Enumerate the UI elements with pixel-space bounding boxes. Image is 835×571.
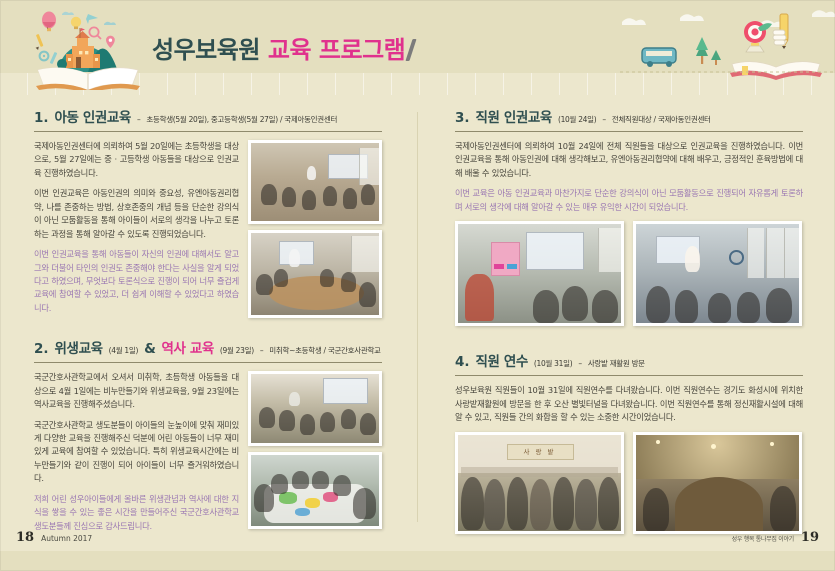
pencil-icon: [36, 34, 44, 50]
section-heading: 1. 아동 인권교육 – 초등학생(5월 20일), 중고등학생(5월 27일)…: [34, 106, 382, 132]
section-heading: 2. 위생교육 (4월 1일) & 역사 교육 (9월 23일) – 미취학~초…: [34, 337, 382, 363]
paragraph: 국제아동인권센터에 의뢰하여 10월 24일에 전체 직원들을 대상으로 인권교…: [455, 140, 803, 180]
paper-plane-icon: [86, 14, 98, 24]
photo-scene: [251, 233, 379, 315]
folio-right: 성우 행복 통나무집 이야기 19: [732, 530, 819, 545]
magnifier-icon: [89, 27, 101, 39]
paragraph: 국제아동인권센터에 의뢰하여 5월 20일에는 초등학생을 대상으로, 5월 2…: [34, 140, 239, 180]
photo-scene: [251, 374, 379, 443]
lightbulb-icon: [71, 17, 81, 29]
page-number-right: 19: [801, 530, 819, 545]
cloud-icon: [680, 14, 704, 21]
photo-chapel-hall-lecture: [248, 140, 382, 224]
section-heading: 4. 직원 연수 (10월 31일) – 사랑밭 재활원 방문: [455, 350, 803, 376]
gear-icon: [40, 52, 49, 61]
castle-building: [66, 28, 100, 68]
cloud-icon: [62, 12, 74, 15]
section-subtitle: 미취학~초등학생 / 국군간호사관학교: [269, 345, 380, 356]
paragraph: 이번 인권교육은 아동인권의 의미와 중요성, 유엔아동권리협약, 나를 존중하…: [34, 187, 239, 241]
photo-scene: [251, 455, 379, 526]
photo-staff-group-activity: [455, 221, 624, 326]
photo-scene: [636, 224, 799, 323]
photo-soap-making-activity: [248, 452, 382, 529]
page-number-left: 18: [16, 530, 34, 545]
photo-row: [455, 221, 803, 326]
section-title-date: (10월 24일): [558, 114, 596, 125]
section-dash: –: [260, 346, 263, 355]
section-body: 국제아동인권센터에 의뢰하여 10월 24일에 전체 직원들을 대상으로 인권교…: [455, 140, 803, 326]
page-title: 성우보육원교육 프로그램: [152, 30, 413, 65]
photo-sarangbat-entrance-group: 사 랑 밭: [455, 432, 624, 534]
section-subtitle: 초등학생(5월 20일), 중고등학생(5월 27일) / 국제아동인권센터: [146, 114, 337, 125]
open-book-with-castle-illustration: [32, 6, 144, 90]
section-body: 성우보육원 직원들이 10월 31일에 직원연수를 다녀왔습니다. 이번 직원연…: [455, 384, 803, 533]
photo-staff-lecture-room: [633, 221, 802, 326]
section-number: 1.: [34, 110, 49, 126]
right-column: 3. 직원 인권교육 (10월 24일) – 전체직원대상 / 국제아동인권센터…: [455, 106, 803, 548]
photo-row: 사 랑 밭: [455, 432, 803, 534]
cloud-icon: [622, 18, 646, 25]
section-title-date: (10월 31일): [534, 358, 572, 369]
paragraph-highlight: 이번 교육은 아동 인권교육과 마찬가지로 단순한 강의식이 아닌 모둠활동으로…: [455, 187, 803, 214]
section-dash: –: [137, 115, 140, 124]
section-title-secondary-date: (9월 23일): [220, 345, 254, 356]
section-body: 국제아동인권센터에 의뢰하여 5월 20일에는 초등학생을 대상으로, 5월 2…: [34, 140, 382, 315]
section-staff-human-rights-education: 3. 직원 인권교육 (10월 24일) – 전체직원대상 / 국제아동인권센터…: [455, 106, 803, 326]
photo-scene: [251, 143, 379, 221]
photo-scene: 사 랑 밭: [458, 435, 621, 531]
ruler-icon: [50, 52, 58, 64]
title-slash-mark: [406, 39, 417, 61]
section-subtitle: 전체직원대상 / 국제아동인권센터: [612, 114, 711, 125]
publication-label: 성우 행복 통나무집 이야기: [732, 534, 794, 543]
section-title-secondary: 역사 교육: [161, 337, 213, 357]
section-title: 직원 인권교육: [476, 106, 552, 126]
section-number: 4.: [455, 354, 470, 370]
section-title: 위생교육: [55, 337, 103, 357]
left-column: 1. 아동 인권교육 – 초등학생(5월 20일), 중고등학생(5월 27일)…: [34, 106, 382, 547]
header-right-illustration: [620, 8, 835, 88]
section-title-amp: &: [144, 341, 155, 357]
paragraph: 국군간호사관학교 생도분들이 아이들의 눈높이에 맞춰 재미있게 다양한 교육을…: [34, 419, 239, 486]
photo-scene: [458, 224, 621, 323]
bookmark-icon: [742, 66, 748, 75]
section-subtitle: 사랑밭 재활원 방문: [588, 358, 645, 369]
section-dash: –: [602, 115, 605, 124]
section-number: 2.: [34, 341, 49, 357]
photo-scene: [636, 435, 799, 531]
paragraph: 국군간호사관학교에서 오셔서 미취학, 초등학생 아동들을 대상으로 4월 1일…: [34, 371, 239, 411]
footer-band: [0, 551, 835, 571]
photo-round-table-discussion: [248, 230, 382, 318]
hand-icon: [773, 30, 786, 45]
facility-sign-text: 사 랑 밭: [507, 444, 572, 458]
folio-left: 18 Autumn 2017: [16, 530, 92, 545]
section-title-date: (4월 1일): [109, 345, 138, 356]
section-number: 3.: [455, 110, 470, 126]
section-title: 아동 인권교육: [55, 106, 131, 126]
page-title-main: 성우보육원: [152, 36, 260, 64]
page-header: 성우보육원교육 프로그램: [0, 0, 835, 95]
tree-icon: [696, 37, 708, 64]
section-staff-training-trip: 4. 직원 연수 (10월 31일) – 사랑밭 재활원 방문 성우보육원 직원…: [455, 350, 803, 533]
hot-air-balloon-icon: [42, 12, 56, 32]
column-divider: [417, 112, 418, 522]
issue-label: Autumn 2017: [41, 534, 92, 543]
cloud-icon: [812, 10, 835, 17]
magazine-page: 성우보육원교육 프로그램: [0, 0, 835, 571]
section-heading: 3. 직원 인권교육 (10월 24일) – 전체직원대상 / 국제아동인권센터: [455, 106, 803, 132]
paragraph-highlight: 이번 인권교육을 통해 아동들이 자신의 인권에 대해서도 알고 그와 더불어 …: [34, 248, 239, 315]
section-body: 국군간호사관학교에서 오셔서 미취학, 초등학생 아동들을 대상으로 4월 1일…: [34, 371, 382, 533]
paragraph: 성우보육원 직원들이 10월 31일에 직원연수를 다녀왔습니다. 이번 직원연…: [455, 384, 803, 424]
page-title-accent: 교육 프로그램: [268, 36, 405, 64]
map-pin-icon: [106, 36, 115, 48]
tree-icon: [711, 50, 721, 65]
bus-icon: [642, 48, 676, 67]
photo-classroom-history-lesson: [248, 371, 382, 446]
section-dash: –: [578, 359, 581, 368]
paragraph-highlight: 저희 어린 성우아이들에게 올바른 위생관념과 역사에 대한 지식을 쌓을 수 …: [34, 493, 239, 533]
section-child-human-rights-education: 1. 아동 인권교육 – 초등학생(5월 20일), 중고등학생(5월 27일)…: [34, 106, 382, 315]
section-title: 직원 연수: [476, 350, 528, 370]
photo-starlight-tunnel-visit: [633, 432, 802, 534]
cloud-icon: [104, 22, 116, 25]
section-hygiene-and-history-education: 2. 위생교육 (4월 1일) & 역사 교육 (9월 23일) – 미취학~초…: [34, 337, 382, 533]
